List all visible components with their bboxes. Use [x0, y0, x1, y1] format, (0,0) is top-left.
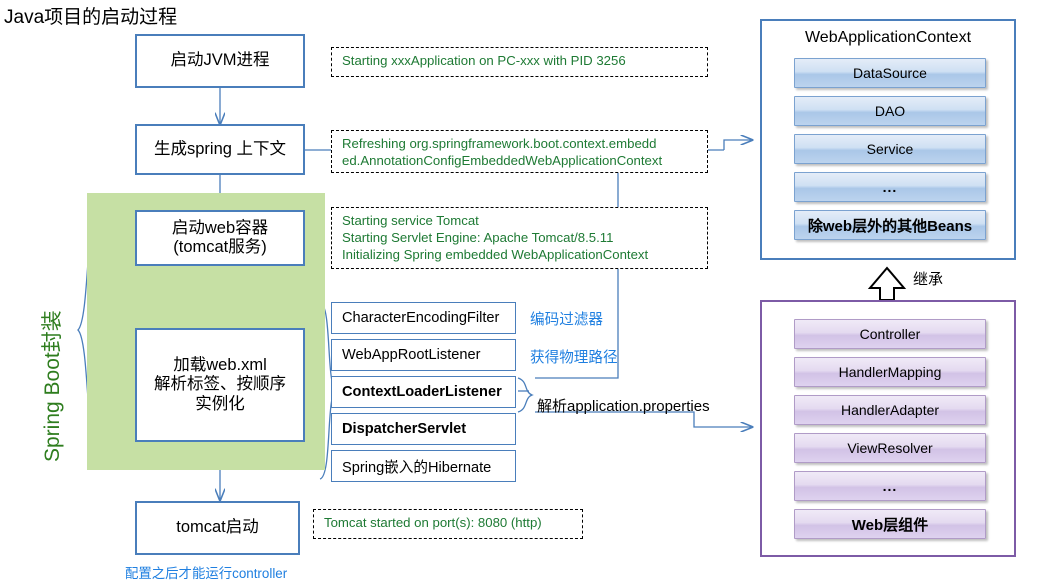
log-line: Starting xxxApplication on PC-xxx with P… [342, 52, 699, 69]
diagram-canvas: Java项目的启动过程 Spring Boot封装 启动JVM进程 生成spri… [0, 0, 1051, 588]
log-box-refresh-context: Refreshing org.springframework.boot.cont… [331, 130, 708, 173]
listener-dispatcher-servlet[interactable]: DispatcherServlet [331, 413, 516, 445]
flow-box-jvm[interactable]: 启动JVM进程 [135, 34, 305, 88]
bean-label: Web层组件 [852, 514, 928, 535]
page-title: Java项目的启动过程 [4, 2, 177, 29]
log-line: Starting Servlet Engine: Apache Tomcat/8… [342, 229, 699, 246]
flow-box-web-container[interactable]: 启动web容器 (tomcat服务) [135, 210, 305, 266]
listener-context-loader-listener[interactable]: ContextLoaderListener [331, 376, 516, 408]
bean-controller[interactable]: Controller [794, 319, 986, 349]
bean-label: ... [883, 179, 898, 195]
bean-web-components[interactable]: Web层组件 [794, 509, 986, 539]
flow-box-load-webxml[interactable]: 加载web.xml 解析标签、按顺序 实例化 [135, 328, 305, 442]
bean-ellipsis[interactable]: ... [794, 172, 986, 202]
flow-box-spring-context-label: 生成spring 上下文 [154, 140, 286, 159]
log-line: Refreshing org.springframework.boot.cont… [342, 135, 699, 152]
annotation-inherit: 继承 [913, 268, 943, 289]
log-line: Initializing Spring embedded WebApplicat… [342, 246, 699, 263]
annotation-physical-path: 获得物理路径 [530, 346, 618, 367]
log-box-start-app: Starting xxxApplication on PC-xxx with P… [331, 47, 708, 77]
bean-label: DataSource [853, 65, 927, 81]
bean-ellipsis[interactable]: ... [794, 471, 986, 501]
inherit-arrow [870, 268, 904, 300]
bean-handler-adapter[interactable]: HandlerAdapter [794, 395, 986, 425]
listener-webapp-root-listener[interactable]: WebAppRootListener [331, 339, 516, 371]
flow-box-jvm-label: 启动JVM进程 [171, 51, 270, 70]
log-box-tomcat-port: Tomcat started on port(s): 8080 (http) [313, 509, 583, 539]
flow-box-spring-context[interactable]: 生成spring 上下文 [135, 124, 305, 175]
listener-character-encoding-filter[interactable]: CharacterEncodingFilter [331, 302, 516, 334]
bean-label: DAO [875, 103, 905, 119]
bean-datasource[interactable]: DataSource [794, 58, 986, 88]
web-layer-box: Controller HandlerMapping HandlerAdapter… [760, 300, 1016, 557]
listener-spring-hibernate[interactable]: Spring嵌入的Hibernate [331, 450, 516, 482]
bean-service[interactable]: Service [794, 134, 986, 164]
annotation-controller-note: 配置之后才能运行controller [125, 562, 287, 582]
listener-label: Spring嵌入的Hibernate [342, 456, 491, 477]
listener-label: ContextLoaderListener [342, 384, 502, 400]
bean-other-beans[interactable]: 除web层外的其他Beans [794, 210, 986, 240]
flow-box-web-container-label: 启动web容器 (tomcat服务) [172, 219, 268, 258]
flow-box-tomcat-start-label: tomcat启动 [176, 518, 259, 537]
bean-label: 除web层外的其他Beans [808, 215, 972, 236]
listener-label: CharacterEncodingFilter [342, 310, 499, 326]
bean-label: HandlerAdapter [841, 402, 939, 418]
log-line: ed.AnnotationConfigEmbeddedWebApplicatio… [342, 152, 699, 169]
annotation-encoding-filter: 编码过滤器 [530, 308, 603, 329]
bean-view-resolver[interactable]: ViewResolver [794, 433, 986, 463]
bean-dao[interactable]: DAO [794, 96, 986, 126]
springboot-wrap-label: Spring Boot封装 [36, 310, 66, 462]
bean-label: ViewResolver [847, 440, 932, 456]
log-line: Tomcat started on port(s): 8080 (http) [324, 514, 574, 531]
bean-label: ... [883, 478, 898, 494]
log-box-tomcat-init: Starting service Tomcat Starting Servlet… [331, 207, 708, 269]
bean-label: Service [867, 141, 914, 157]
listener-label: DispatcherServlet [342, 421, 466, 437]
listener-label: WebAppRootListener [342, 347, 480, 363]
webapplicationcontext-title: WebApplicationContext [762, 29, 1014, 47]
log-line: Starting service Tomcat [342, 212, 699, 229]
bean-label: Controller [860, 326, 921, 342]
bean-label: HandlerMapping [839, 364, 942, 380]
webapplicationcontext-box: WebApplicationContext DataSource DAO Ser… [760, 19, 1016, 260]
annotation-parse-properties: 解析application.properties [537, 395, 710, 416]
flow-box-tomcat-start[interactable]: tomcat启动 [135, 501, 300, 555]
bean-handler-mapping[interactable]: HandlerMapping [794, 357, 986, 387]
flow-box-load-webxml-label: 加载web.xml 解析标签、按顺序 实例化 [154, 356, 286, 414]
